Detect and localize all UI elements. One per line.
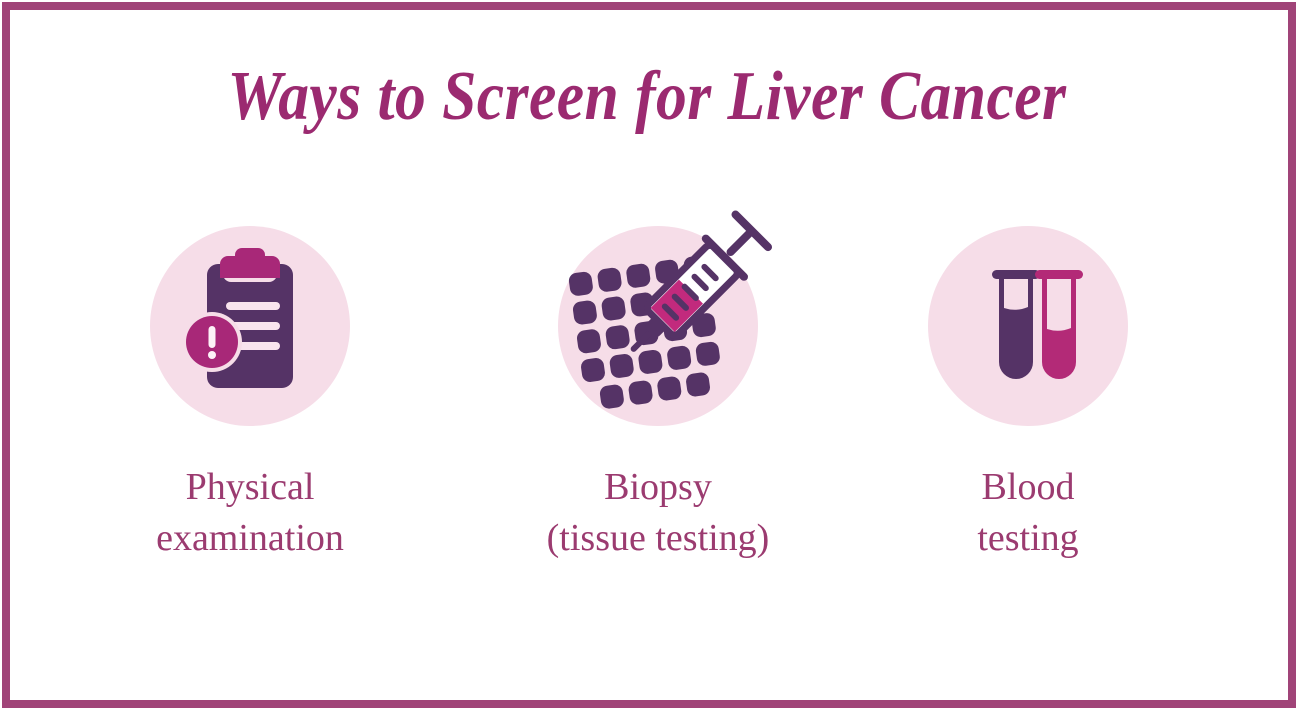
icon-disc-physical-examination <box>150 226 350 426</box>
screening-method-biopsy[interactable]: Biopsy (tissue testing) <box>498 226 818 564</box>
test-tubes-icon <box>928 226 1128 426</box>
slide-canvas: Ways to Screen for Liver Cancer <box>0 0 1308 720</box>
screening-method-label: Biopsy (tissue testing) <box>498 462 818 564</box>
tissue-syringe-icon <box>558 226 758 426</box>
screening-method-label: Physical examination <box>90 462 410 564</box>
icon-disc-biopsy <box>558 226 758 426</box>
clipboard-alert-icon <box>150 226 350 426</box>
screening-methods-row: Physical examination <box>0 226 1294 606</box>
screening-method-physical-examination[interactable]: Physical examination <box>90 226 410 564</box>
screening-method-blood-testing[interactable]: Blood testing <box>868 226 1188 564</box>
icon-disc-blood-testing <box>928 226 1128 426</box>
page-title: Ways to Screen for Liver Cancer <box>78 54 1217 140</box>
screening-method-label: Blood testing <box>868 462 1188 564</box>
